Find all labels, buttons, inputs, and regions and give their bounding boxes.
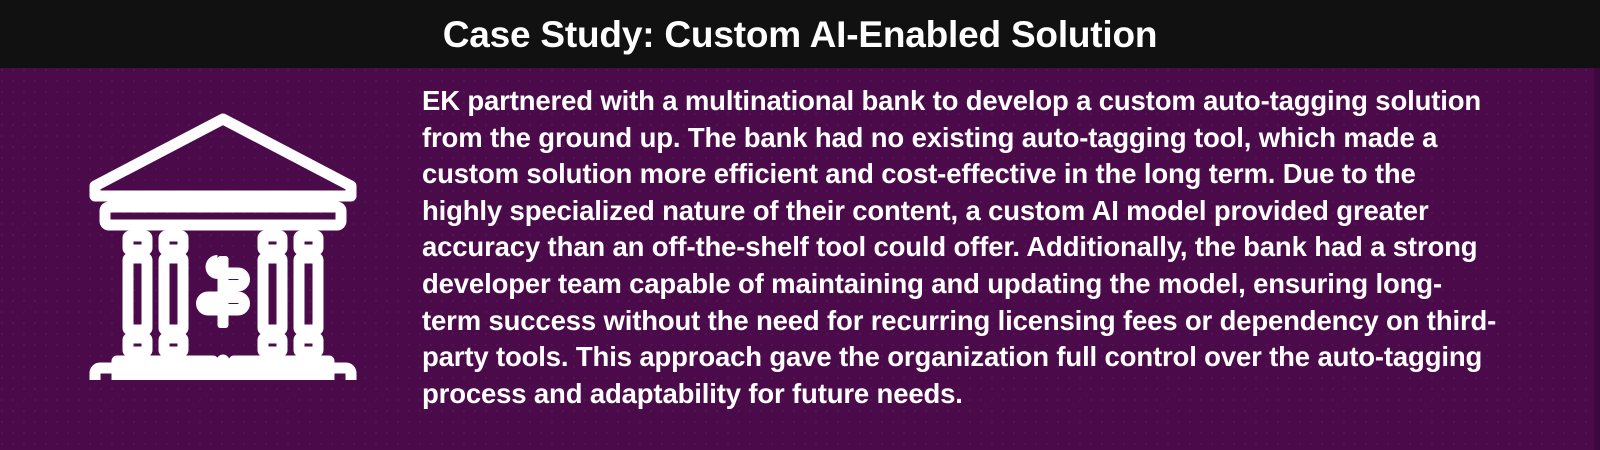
column-1-shaft <box>128 258 147 330</box>
column-2-base <box>164 338 183 352</box>
dollar-sign-icon <box>196 255 250 328</box>
case-study-card: Case Study: Custom AI-Enabled Solution <box>0 0 1600 450</box>
column-4-shaft <box>299 258 318 330</box>
column-4-base <box>299 338 318 352</box>
case-study-paragraph: EK partnered with a multinational bank t… <box>422 83 1572 412</box>
column-4-capital <box>299 236 318 250</box>
page-title: Case Study: Custom AI-Enabled Solution <box>443 16 1158 53</box>
bank-roof-shape <box>95 119 351 196</box>
column-1-base <box>128 338 147 352</box>
header-band: Case Study: Custom AI-Enabled Solution <box>0 0 1600 68</box>
column-3-capital <box>263 236 282 250</box>
column-1-capital <box>128 236 147 250</box>
bank-center-dot <box>217 355 230 368</box>
right-edge-strip <box>1594 68 1600 450</box>
bank-icon <box>88 112 358 380</box>
column-3-base <box>263 338 282 352</box>
column-2-shaft <box>164 258 183 330</box>
bank-entablature <box>105 207 341 225</box>
column-2-capital <box>164 236 183 250</box>
column-3-shaft <box>263 258 282 330</box>
